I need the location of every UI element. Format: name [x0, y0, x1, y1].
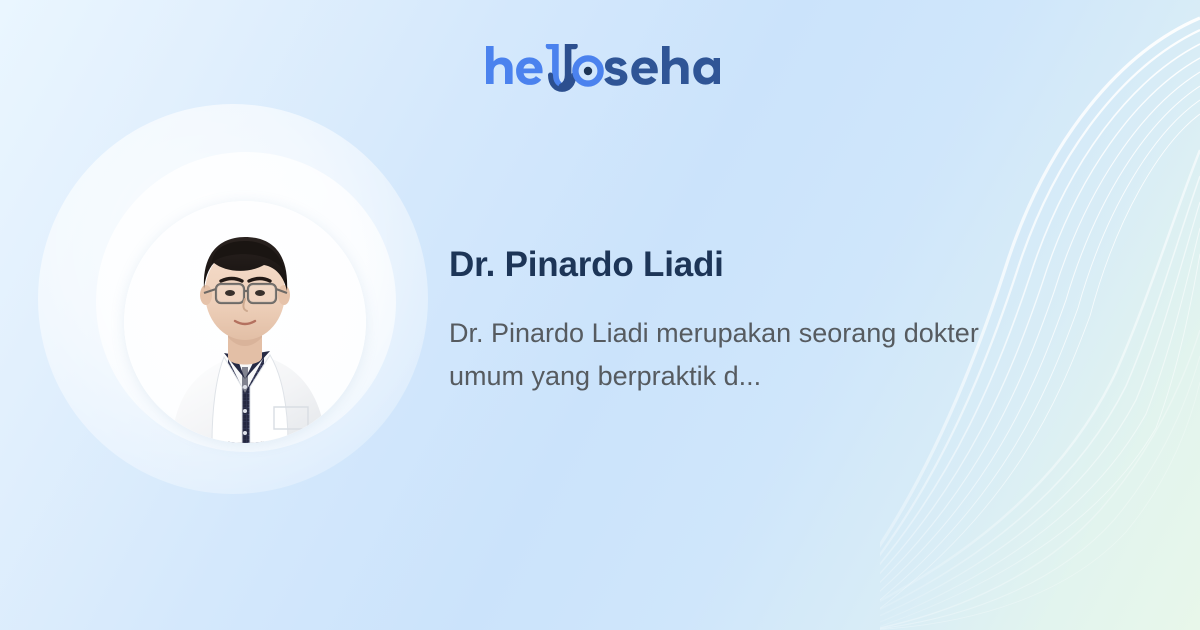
logo-wordmark-hello: [486, 46, 543, 85]
stethoscope-icon: [549, 46, 601, 89]
hellosehat-logo[interactable]: [484, 44, 720, 96]
profile-info: Dr. Pinardo Liadi Dr. Pinardo Liadi meru…: [449, 243, 1049, 398]
logo-wordmark-sehat: [604, 46, 720, 86]
hellosehat-logo-mark: [484, 44, 720, 96]
doctor-name: Dr. Pinardo Liadi: [449, 243, 1049, 287]
doctor-portrait-image: [124, 201, 366, 443]
profile-card: Dr. Pinardo Liadi Dr. Pinardo Liadi meru…: [0, 0, 1200, 630]
avatar: [124, 201, 366, 443]
doctor-description: Dr. Pinardo Liadi merupakan seorang dokt…: [449, 312, 1009, 398]
